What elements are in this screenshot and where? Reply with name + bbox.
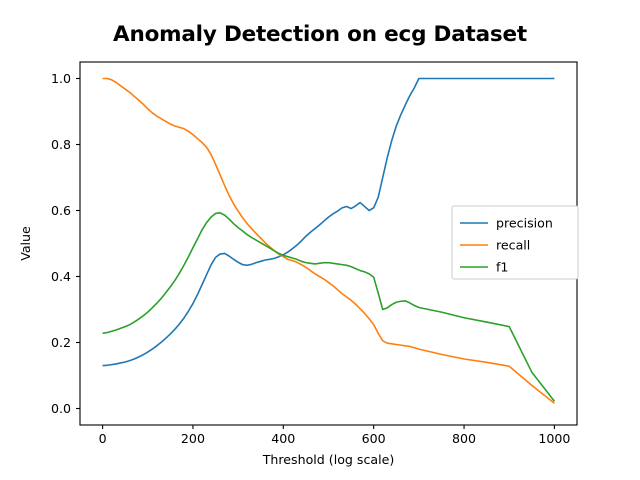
y-tick-label: 1.0 [51,71,71,86]
x-tick-label: 0 [99,431,107,446]
y-tick-label: 0.2 [51,335,71,350]
chart-canvas: 020040060080010000.00.20.40.60.81.0Thres… [0,0,640,480]
legend-label-f1: f1 [496,260,508,275]
x-tick-label: 600 [362,431,386,446]
legend-label-recall: recall [496,238,530,253]
matplotlib-figure: Anomaly Detection on ecg Dataset 0200400… [0,0,640,480]
x-tick-label: 200 [181,431,205,446]
y-axis-label: Value [18,226,33,261]
x-tick-label: 400 [271,431,295,446]
y-tick-label: 0.8 [51,137,71,152]
x-tick-label: 800 [452,431,476,446]
x-tick-label: 1000 [538,431,570,446]
y-tick-label: 0.0 [51,401,71,416]
legend-label-precision: precision [496,216,553,231]
x-axis-label: Threshold (log scale) [262,452,395,467]
y-tick-label: 0.4 [51,269,71,284]
y-tick-label: 0.6 [51,203,71,218]
